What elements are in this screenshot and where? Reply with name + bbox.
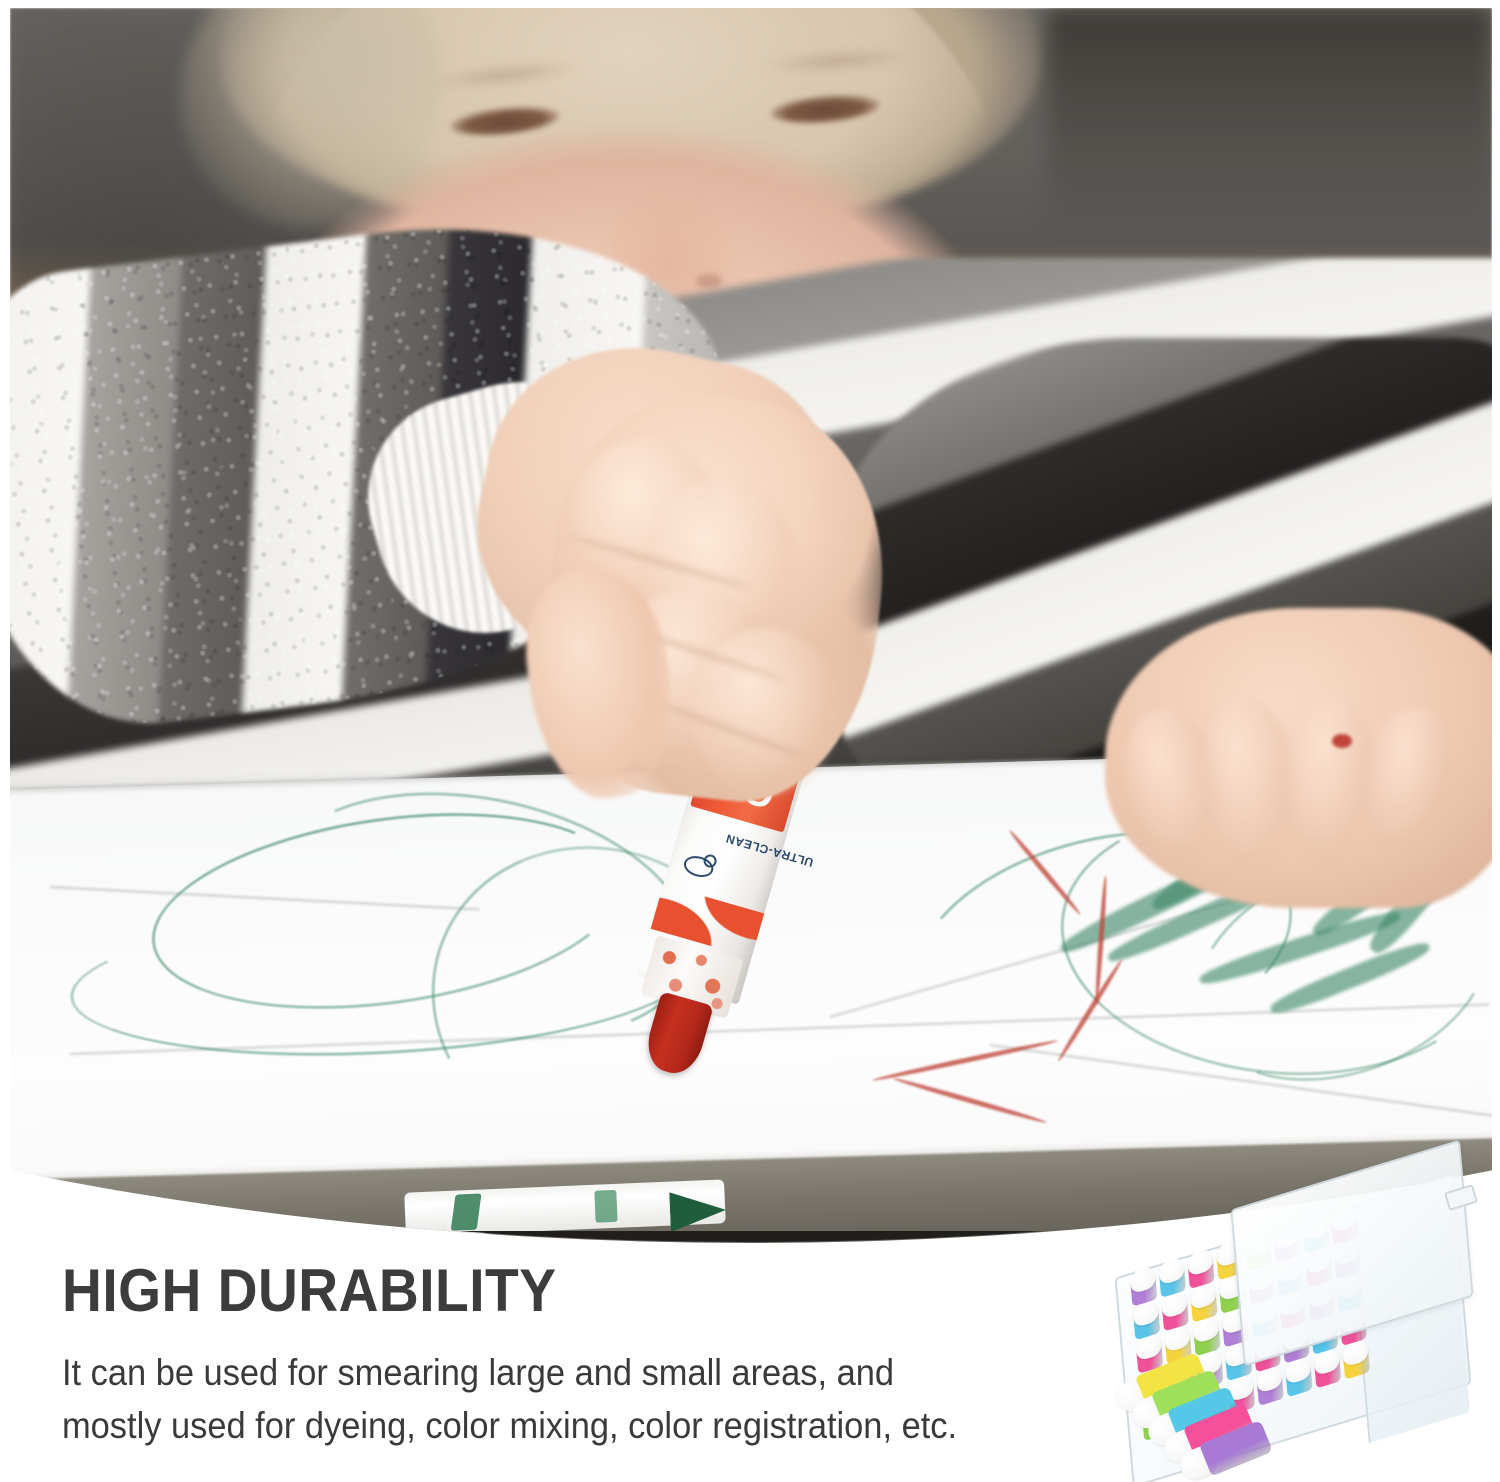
- lifestyle-photo: Cra ULTRA-CLEAN: [10, 8, 1492, 1243]
- page-title: HIGH DURABILITY: [62, 1258, 982, 1324]
- red-ink-smudge: [1332, 734, 1352, 748]
- caption-block: HIGH DURABILITY It can be used for smear…: [62, 1258, 1062, 1452]
- caption-description: It can be used for smearing large and sm…: [62, 1346, 992, 1452]
- backdrop-shadow-right: [1047, 8, 1492, 255]
- product-inset-image: [1110, 1172, 1500, 1482]
- photo-inner: Cra ULTRA-CLEAN: [10, 8, 1492, 1243]
- product-feature-page: Cra ULTRA-CLEAN: [0, 0, 1500, 1482]
- loose-daubers-group: [1114, 1368, 1289, 1480]
